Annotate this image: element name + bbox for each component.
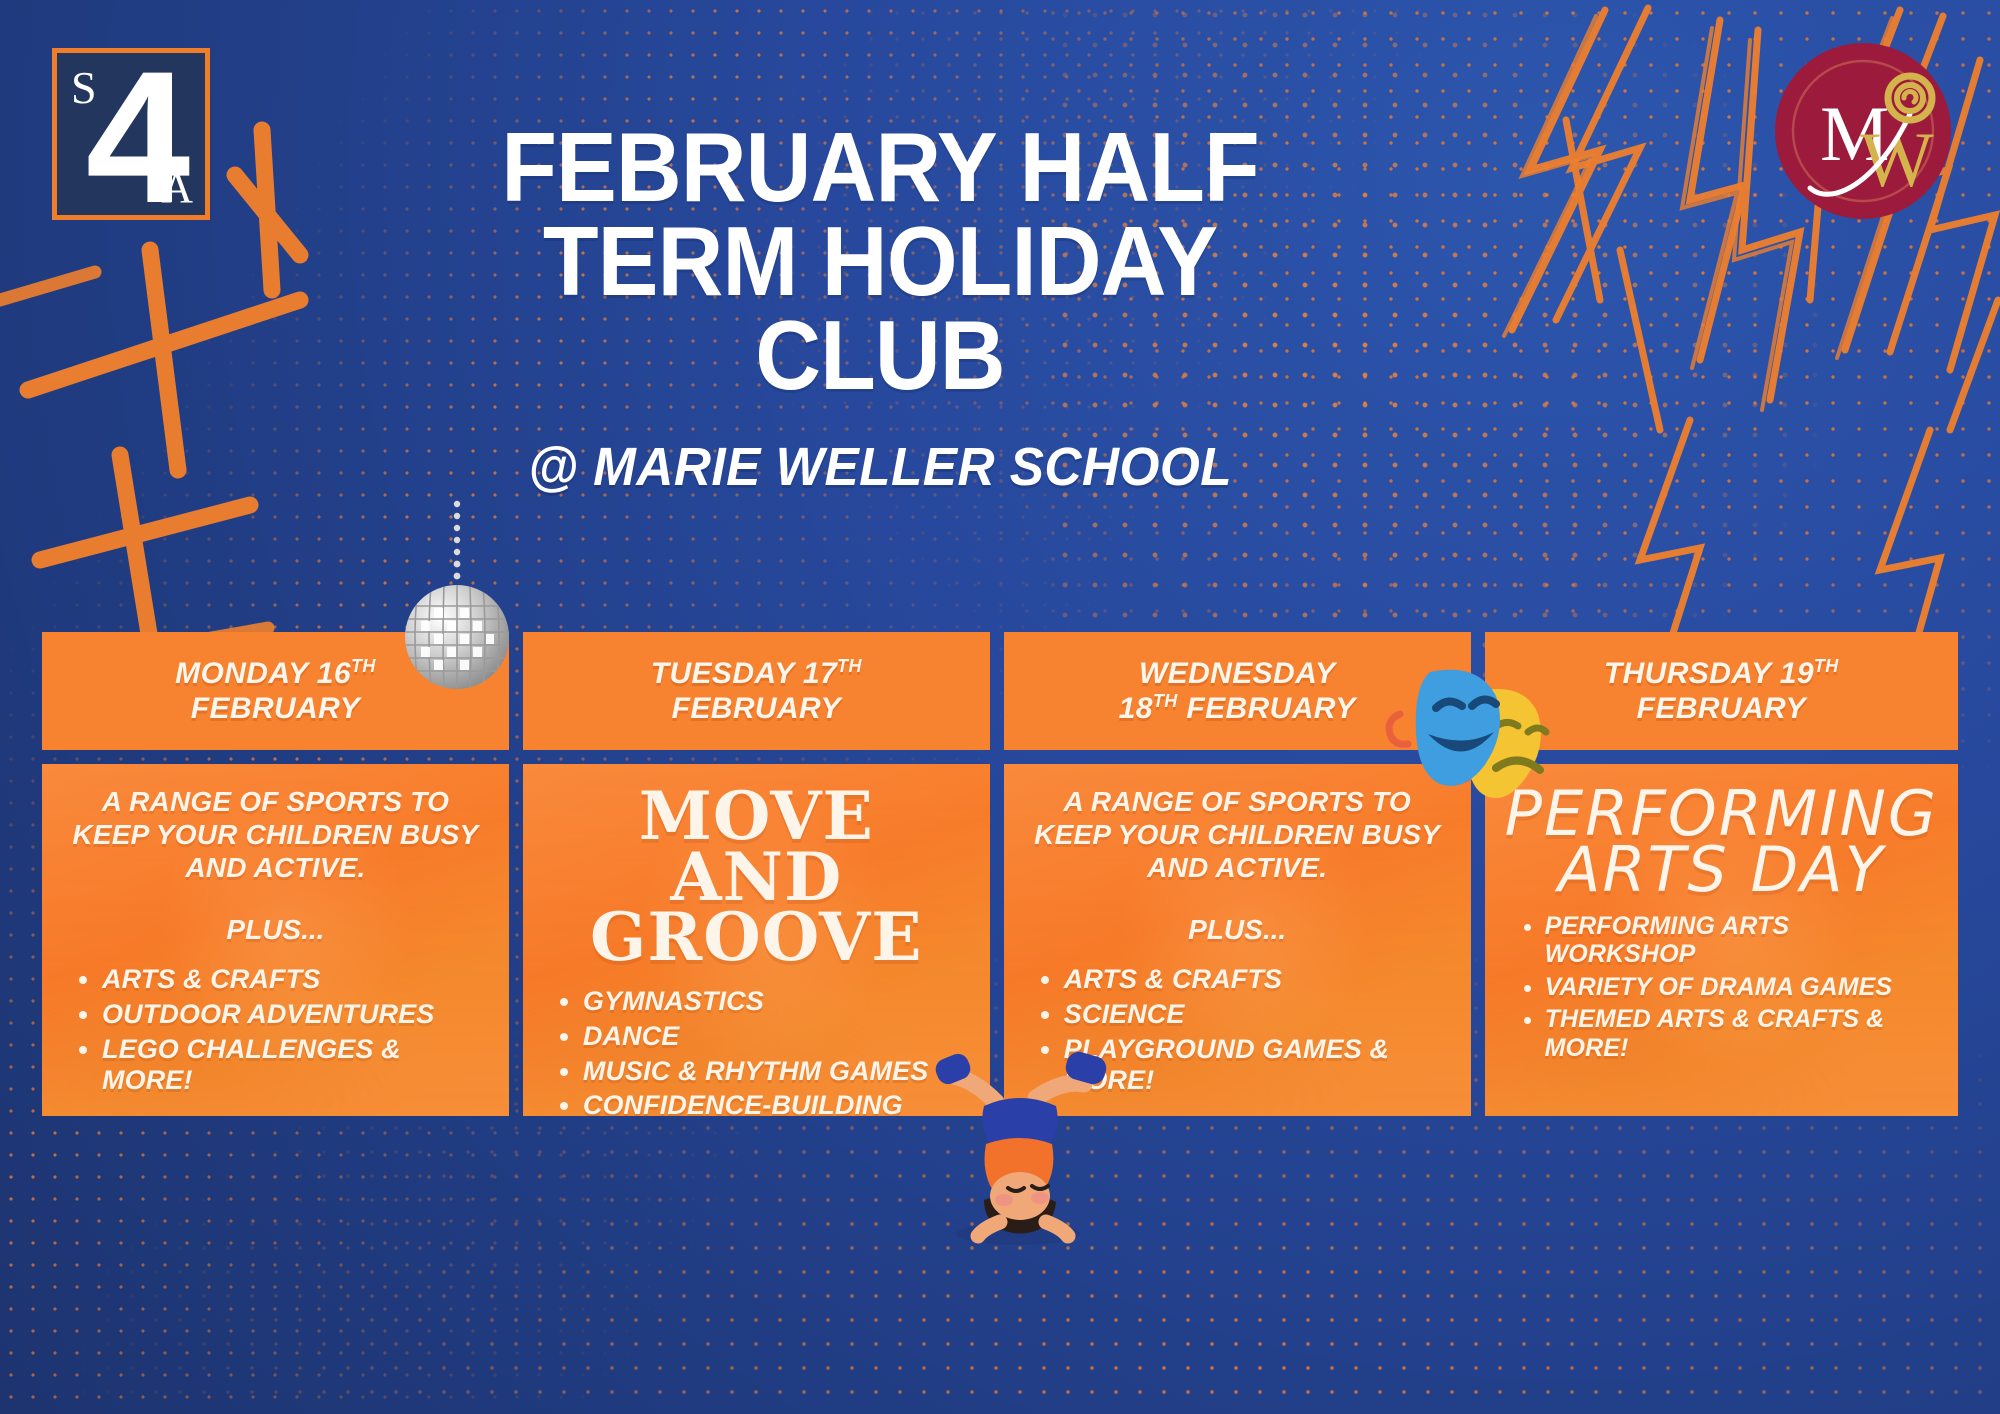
s4a-logo: S 4 A [52,48,210,220]
day-card-thursday-bullets: PERFORMING ARTS WORKSHOP VARIETY OF DRAM… [1505,912,1938,1063]
s4a-logo-letter-a: A [161,162,193,213]
day-column-monday: MONDAY 16TH FEBRUARY A RANGE OF SPORTS T… [42,632,509,1116]
list-item: PERFORMING ARTS WORKSHOP [1545,912,1938,969]
theatre-masks-icon [1378,662,1568,812]
poster-header: FEBRUARY HALF TERM HOLIDAY CLUB @ MARIE … [380,120,1380,498]
day-header-thursday-weekday: THURSDAY [1604,657,1771,690]
day-card-thursday: PERFORMING ARTS DAY PERFORMING ARTS WORK… [1485,764,1958,1116]
day-header-tuesday-month: FEBRUARY [672,692,841,725]
day-header-monday-suffix: TH [351,656,376,676]
day-header-wednesday-month: FEBRUARY [1186,692,1355,725]
disco-ball-icon [392,494,522,694]
poster-canvas: S 4 A M W FEBRUARY HALF TERM HOLIDAY CLU… [0,0,2000,1414]
day-header-monday-weekday: MONDAY [175,657,308,690]
day-header-thursday-date: 19 [1780,657,1814,690]
day-header-thursday-month: FEBRUARY [1637,692,1806,725]
list-item: OUTDOOR ADVENTURES [102,999,489,1030]
marie-weller-logo-letter-w: W [1860,116,1934,203]
day-header-monday-date: 16 [317,657,351,690]
breakdancer-illustration [900,1010,1130,1250]
list-item: ARTS & CRAFTS [102,964,489,995]
list-item: LEGO CHALLENGES & MORE! [102,1034,489,1096]
day-header-tuesday-suffix: TH [837,656,862,676]
day-header-wednesday-date: 18 [1119,692,1153,725]
day-card-tuesday-title: MOVE AND GROOVE [543,786,970,968]
day-header-monday-month: FEBRUARY [191,692,360,725]
day-header-wednesday-weekday: WEDNESDAY [1139,657,1335,690]
breakdancer-legs [932,1049,1109,1102]
day-header-tuesday: TUESDAY 17TH FEBRUARY [523,632,990,750]
page-title: FEBRUARY HALF TERM HOLIDAY CLUB [415,120,1345,402]
list-item: ARTS & CRAFTS [1064,964,1451,995]
day-header-tuesday-date: 17 [803,657,837,690]
day-card-wednesday-plus: PLUS... [1024,914,1451,946]
list-item: THEMED ARTS & CRAFTS & MORE! [1545,1005,1938,1062]
day-card-monday-plus: PLUS... [62,914,489,946]
day-card-monday-lead: A RANGE OF SPORTS TO KEEP YOUR CHILDREN … [62,786,489,884]
day-header-tuesday-weekday: TUESDAY [651,657,794,690]
day-card-monday-bullets: ARTS & CRAFTS OUTDOOR ADVENTURES LEGO CH… [62,964,489,1095]
marie-weller-logo: M W [1768,36,1958,226]
day-card-monday: A RANGE OF SPORTS TO KEEP YOUR CHILDREN … [42,764,509,1116]
day-header-wednesday-suffix: TH [1153,691,1178,711]
day-card-thursday-title: PERFORMING ARTS DAY [1505,786,1938,898]
list-item: VARIETY OF DRAMA GAMES [1545,973,1938,1002]
venue-subtitle: @ MARIE WELLER SCHOOL [405,436,1355,498]
page-title-line-3: CLUB [755,300,1004,410]
day-header-thursday-suffix: TH [1814,656,1839,676]
